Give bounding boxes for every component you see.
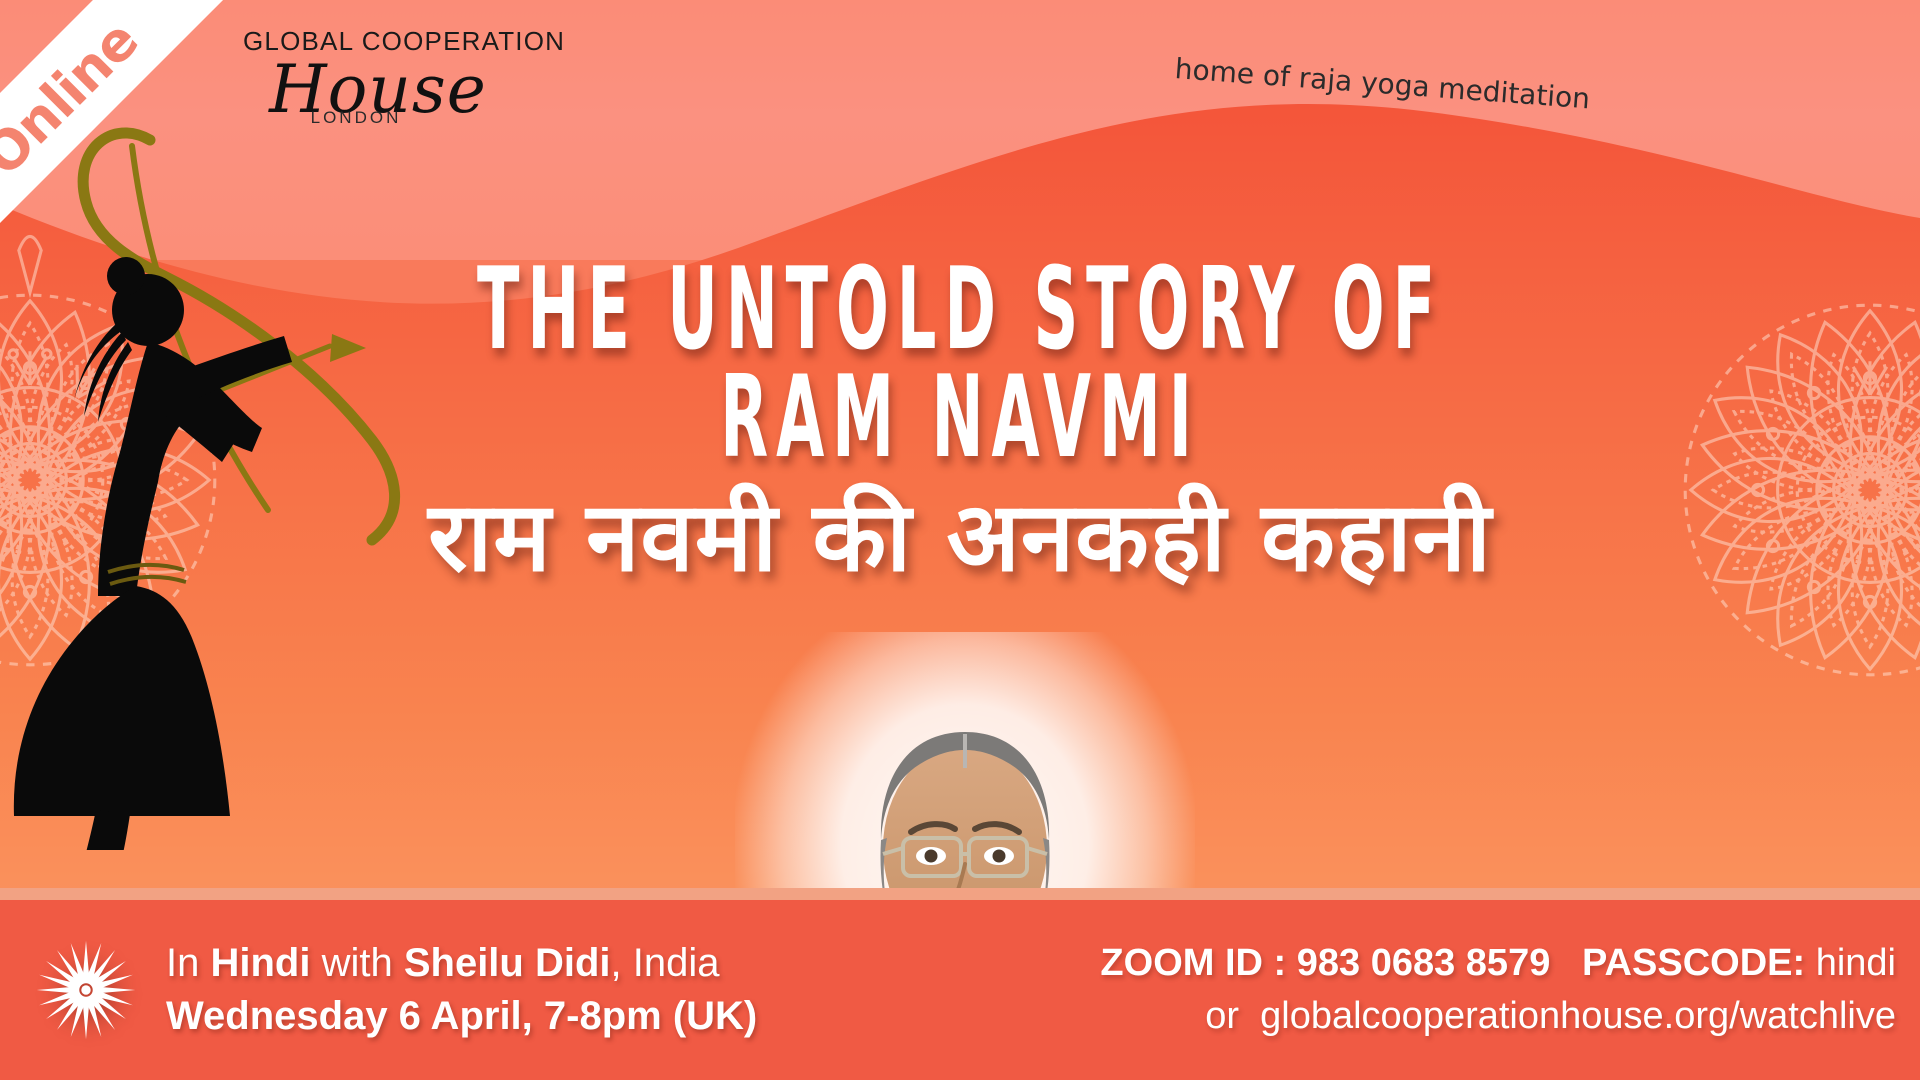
passcode-label: PASSCODE:	[1582, 942, 1805, 984]
language-middle: with	[310, 941, 403, 985]
language-name: Hindi	[210, 941, 310, 985]
bottom-bar-separator	[0, 888, 1920, 900]
bottom-bar-left-text: In Hindi with Sheilu Didi, India Wednesd…	[166, 937, 757, 1043]
event-datetime: Wednesday 6 April, 7-8pm (UK)	[166, 989, 757, 1043]
speaker-country: , India	[611, 941, 720, 985]
watch-live-line: or globalcooperationhouse.org/watchlive	[1100, 989, 1896, 1043]
bottom-bar-right: ZOOM ID : 983 0683 8579 PASSCODE: hindi …	[1100, 937, 1896, 1043]
online-ribbon-label: Online	[0, 8, 150, 187]
global-cooperation-house-logo: GLOBAL COOPERATION House LONDON	[243, 26, 513, 128]
zoom-id-label: ZOOM ID :	[1100, 942, 1286, 984]
language-prefix: In	[166, 941, 210, 985]
passcode-value: hindi	[1816, 942, 1896, 984]
sunburst-icon	[30, 934, 142, 1046]
zoom-access-line: ZOOM ID : 983 0683 8579 PASSCODE: hindi	[1100, 937, 1896, 989]
speaker-name: Sheilu Didi	[404, 941, 611, 985]
bottom-bar-left: In Hindi with Sheilu Didi, India Wednesd…	[0, 934, 820, 1046]
zoom-id-value: 983 0683 8579	[1297, 942, 1551, 984]
watch-prefix: or	[1205, 995, 1239, 1037]
language-speaker-line: In Hindi with Sheilu Didi, India	[166, 937, 757, 989]
event-banner: Online GLOBAL COOPERATION House LONDON h…	[0, 0, 1920, 1080]
watch-live-url[interactable]: globalcooperationhouse.org/watchlive	[1260, 995, 1896, 1037]
bottom-info-bar: In Hindi with Sheilu Didi, India Wednesd…	[0, 900, 1920, 1080]
